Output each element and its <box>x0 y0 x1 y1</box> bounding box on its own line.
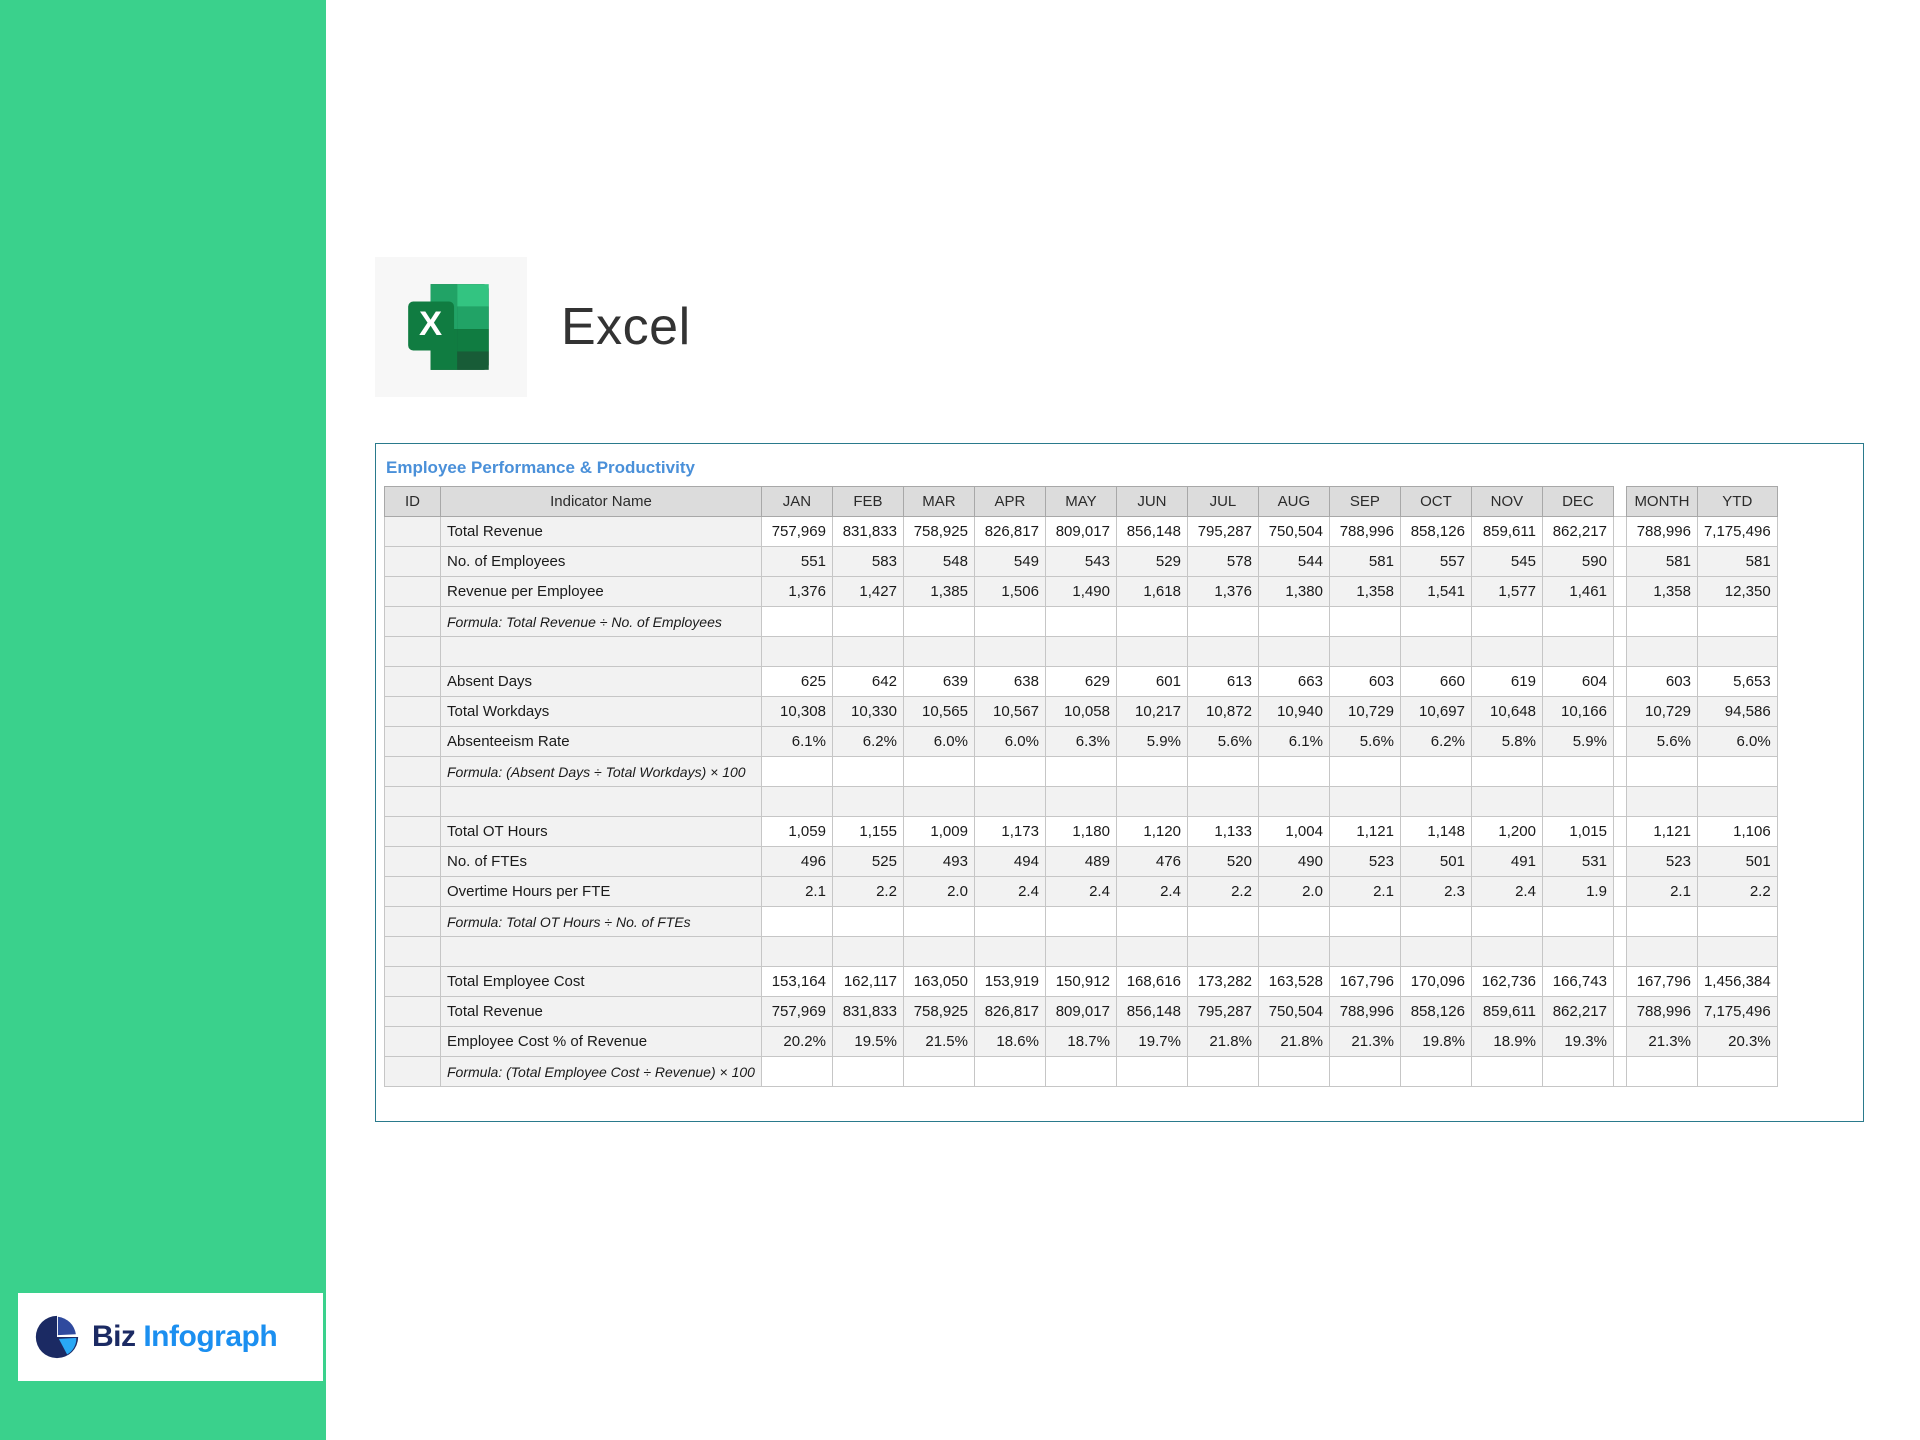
cell-mar[interactable]: 163,050 <box>903 967 974 997</box>
cell-sep[interactable] <box>1329 1057 1400 1087</box>
cell-oct[interactable] <box>1400 637 1471 667</box>
cell-mar[interactable]: 6.0% <box>903 727 974 757</box>
cell-ytd[interactable] <box>1697 907 1777 937</box>
table-row[interactable] <box>385 637 1778 667</box>
cell-indicator-name[interactable]: Formula: Total Revenue ÷ No. of Employee… <box>441 607 762 637</box>
cell-mar[interactable]: 1,009 <box>903 817 974 847</box>
cell-oct[interactable] <box>1400 607 1471 637</box>
cell-jul[interactable]: 5.6% <box>1187 727 1258 757</box>
cell-id[interactable] <box>385 757 441 787</box>
cell-indicator-name[interactable]: Total Employee Cost <box>441 967 762 997</box>
cell-aug[interactable]: 1,380 <box>1258 577 1329 607</box>
cell-feb[interactable]: 19.5% <box>832 1027 903 1057</box>
cell-sep[interactable]: 523 <box>1329 847 1400 877</box>
cell-feb[interactable]: 2.2 <box>832 877 903 907</box>
cell-oct[interactable]: 858,126 <box>1400 997 1471 1027</box>
cell-may[interactable]: 629 <box>1045 667 1116 697</box>
cell-feb[interactable] <box>832 937 903 967</box>
cell-month[interactable] <box>1626 907 1697 937</box>
table-row[interactable]: No. of FTEs49652549349448947652049052350… <box>385 847 1778 877</box>
cell-mar[interactable] <box>903 907 974 937</box>
cell-sep[interactable]: 603 <box>1329 667 1400 697</box>
cell-jun[interactable]: 19.7% <box>1116 1027 1187 1057</box>
cell-dec[interactable]: 1,015 <box>1542 817 1613 847</box>
cell-dec[interactable]: 862,217 <box>1542 997 1613 1027</box>
cell-id[interactable] <box>385 1027 441 1057</box>
cell-jul[interactable]: 795,287 <box>1187 517 1258 547</box>
cell-id[interactable] <box>385 847 441 877</box>
cell-oct[interactable] <box>1400 787 1471 817</box>
cell-apr[interactable] <box>974 757 1045 787</box>
cell-apr[interactable]: 2.4 <box>974 877 1045 907</box>
cell-feb[interactable] <box>832 637 903 667</box>
cell-jun[interactable] <box>1116 907 1187 937</box>
cell-month[interactable] <box>1626 757 1697 787</box>
cell-indicator-name[interactable]: Absenteeism Rate <box>441 727 762 757</box>
cell-aug[interactable] <box>1258 757 1329 787</box>
cell-sep[interactable] <box>1329 907 1400 937</box>
cell-jul[interactable] <box>1187 607 1258 637</box>
cell-apr[interactable]: 549 <box>974 547 1045 577</box>
cell-sep[interactable] <box>1329 757 1400 787</box>
cell-dec[interactable]: 1,461 <box>1542 577 1613 607</box>
cell-jan[interactable] <box>761 907 832 937</box>
cell-apr[interactable]: 1,173 <box>974 817 1045 847</box>
cell-aug[interactable] <box>1258 1057 1329 1087</box>
cell-month[interactable] <box>1626 937 1697 967</box>
table-row[interactable]: Total Workdays10,30810,33010,56510,56710… <box>385 697 1778 727</box>
cell-mar[interactable]: 548 <box>903 547 974 577</box>
cell-oct[interactable]: 858,126 <box>1400 517 1471 547</box>
cell-jun[interactable]: 5.9% <box>1116 727 1187 757</box>
cell-id[interactable] <box>385 517 441 547</box>
cell-jan[interactable] <box>761 937 832 967</box>
cell-indicator-name[interactable]: No. of FTEs <box>441 847 762 877</box>
cell-aug[interactable] <box>1258 907 1329 937</box>
cell-mar[interactable]: 10,565 <box>903 697 974 727</box>
cell-mar[interactable]: 1,385 <box>903 577 974 607</box>
cell-nov[interactable]: 2.4 <box>1471 877 1542 907</box>
cell-may[interactable]: 10,058 <box>1045 697 1116 727</box>
cell-ytd[interactable]: 6.0% <box>1697 727 1777 757</box>
cell-jun[interactable] <box>1116 787 1187 817</box>
cell-may[interactable] <box>1045 637 1116 667</box>
cell-aug[interactable] <box>1258 607 1329 637</box>
cell-may[interactable] <box>1045 1057 1116 1087</box>
cell-jul[interactable] <box>1187 937 1258 967</box>
cell-jan[interactable]: 6.1% <box>761 727 832 757</box>
cell-feb[interactable] <box>832 787 903 817</box>
cell-sep[interactable]: 2.1 <box>1329 877 1400 907</box>
cell-nov[interactable]: 545 <box>1471 547 1542 577</box>
cell-jun[interactable]: 856,148 <box>1116 997 1187 1027</box>
cell-id[interactable] <box>385 637 441 667</box>
cell-may[interactable] <box>1045 607 1116 637</box>
cell-dec[interactable]: 862,217 <box>1542 517 1613 547</box>
cell-apr[interactable]: 826,817 <box>974 997 1045 1027</box>
cell-mar[interactable] <box>903 637 974 667</box>
table-row[interactable]: Total Revenue757,969831,833758,925826,81… <box>385 517 1778 547</box>
cell-apr[interactable]: 153,919 <box>974 967 1045 997</box>
table-row[interactable]: Formula: (Total Employee Cost ÷ Revenue)… <box>385 1057 1778 1087</box>
cell-id[interactable] <box>385 727 441 757</box>
cell-apr[interactable]: 6.0% <box>974 727 1045 757</box>
cell-indicator-name[interactable]: No. of Employees <box>441 547 762 577</box>
cell-aug[interactable]: 1,004 <box>1258 817 1329 847</box>
cell-may[interactable] <box>1045 757 1116 787</box>
cell-dec[interactable] <box>1542 607 1613 637</box>
cell-dec[interactable] <box>1542 1057 1613 1087</box>
cell-month[interactable]: 581 <box>1626 547 1697 577</box>
cell-month[interactable]: 603 <box>1626 667 1697 697</box>
cell-sep[interactable]: 10,729 <box>1329 697 1400 727</box>
cell-jan[interactable]: 551 <box>761 547 832 577</box>
cell-ytd[interactable]: 1,456,384 <box>1697 967 1777 997</box>
cell-may[interactable]: 1,490 <box>1045 577 1116 607</box>
cell-may[interactable]: 809,017 <box>1045 997 1116 1027</box>
cell-jul[interactable]: 578 <box>1187 547 1258 577</box>
cell-indicator-name[interactable] <box>441 637 762 667</box>
cell-jul[interactable]: 613 <box>1187 667 1258 697</box>
cell-indicator-name[interactable] <box>441 787 762 817</box>
cell-ytd[interactable]: 7,175,496 <box>1697 997 1777 1027</box>
cell-may[interactable]: 150,912 <box>1045 967 1116 997</box>
cell-indicator-name[interactable]: Formula: (Total Employee Cost ÷ Revenue)… <box>441 1057 762 1087</box>
cell-month[interactable]: 1,121 <box>1626 817 1697 847</box>
cell-dec[interactable] <box>1542 937 1613 967</box>
cell-feb[interactable]: 831,833 <box>832 997 903 1027</box>
cell-id[interactable] <box>385 1057 441 1087</box>
cell-oct[interactable]: 10,697 <box>1400 697 1471 727</box>
cell-ytd[interactable]: 2.2 <box>1697 877 1777 907</box>
cell-jun[interactable] <box>1116 757 1187 787</box>
cell-ytd[interactable]: 7,175,496 <box>1697 517 1777 547</box>
cell-mar[interactable] <box>903 787 974 817</box>
cell-mar[interactable]: 493 <box>903 847 974 877</box>
cell-nov[interactable]: 1,200 <box>1471 817 1542 847</box>
cell-feb[interactable]: 583 <box>832 547 903 577</box>
cell-dec[interactable]: 531 <box>1542 847 1613 877</box>
cell-jul[interactable]: 795,287 <box>1187 997 1258 1027</box>
cell-dec[interactable]: 604 <box>1542 667 1613 697</box>
cell-id[interactable] <box>385 967 441 997</box>
cell-aug[interactable] <box>1258 637 1329 667</box>
cell-jan[interactable]: 757,969 <box>761 517 832 547</box>
cell-jan[interactable]: 1,059 <box>761 817 832 847</box>
cell-ytd[interactable]: 501 <box>1697 847 1777 877</box>
cell-aug[interactable]: 490 <box>1258 847 1329 877</box>
table-row[interactable]: No. of Employees551583548549543529578544… <box>385 547 1778 577</box>
cell-may[interactable]: 489 <box>1045 847 1116 877</box>
cell-dec[interactable] <box>1542 637 1613 667</box>
table-row[interactable]: Employee Cost % of Revenue20.2%19.5%21.5… <box>385 1027 1778 1057</box>
cell-dec[interactable]: 166,743 <box>1542 967 1613 997</box>
cell-mar[interactable]: 21.5% <box>903 1027 974 1057</box>
table-row[interactable]: Total Employee Cost153,164162,117163,050… <box>385 967 1778 997</box>
cell-apr[interactable] <box>974 907 1045 937</box>
cell-may[interactable]: 18.7% <box>1045 1027 1116 1057</box>
cell-mar[interactable] <box>903 937 974 967</box>
cell-nov[interactable]: 10,648 <box>1471 697 1542 727</box>
cell-oct[interactable] <box>1400 907 1471 937</box>
cell-apr[interactable] <box>974 607 1045 637</box>
cell-feb[interactable]: 162,117 <box>832 967 903 997</box>
cell-feb[interactable]: 6.2% <box>832 727 903 757</box>
cell-sep[interactable]: 788,996 <box>1329 997 1400 1027</box>
cell-month[interactable]: 167,796 <box>1626 967 1697 997</box>
cell-id[interactable] <box>385 997 441 1027</box>
cell-jan[interactable]: 2.1 <box>761 877 832 907</box>
cell-ytd[interactable] <box>1697 757 1777 787</box>
cell-jan[interactable]: 496 <box>761 847 832 877</box>
cell-jun[interactable] <box>1116 1057 1187 1087</box>
cell-nov[interactable] <box>1471 637 1542 667</box>
cell-apr[interactable]: 1,506 <box>974 577 1045 607</box>
cell-jan[interactable]: 153,164 <box>761 967 832 997</box>
cell-dec[interactable] <box>1542 757 1613 787</box>
table-row[interactable]: Absent Days62564263963862960161366360366… <box>385 667 1778 697</box>
cell-ytd[interactable]: 20.3% <box>1697 1027 1777 1057</box>
cell-ytd[interactable] <box>1697 607 1777 637</box>
cell-jan[interactable]: 625 <box>761 667 832 697</box>
cell-may[interactable] <box>1045 907 1116 937</box>
cell-sep[interactable] <box>1329 637 1400 667</box>
cell-id[interactable] <box>385 907 441 937</box>
cell-jul[interactable]: 520 <box>1187 847 1258 877</box>
cell-may[interactable]: 543 <box>1045 547 1116 577</box>
cell-month[interactable]: 10,729 <box>1626 697 1697 727</box>
cell-jun[interactable]: 529 <box>1116 547 1187 577</box>
cell-mar[interactable] <box>903 757 974 787</box>
cell-indicator-name[interactable]: Revenue per Employee <box>441 577 762 607</box>
cell-apr[interactable]: 826,817 <box>974 517 1045 547</box>
cell-aug[interactable]: 750,504 <box>1258 517 1329 547</box>
cell-ytd[interactable] <box>1697 787 1777 817</box>
cell-oct[interactable]: 2.3 <box>1400 877 1471 907</box>
cell-ytd[interactable]: 12,350 <box>1697 577 1777 607</box>
cell-jan[interactable] <box>761 607 832 637</box>
cell-nov[interactable] <box>1471 757 1542 787</box>
cell-indicator-name[interactable]: Absent Days <box>441 667 762 697</box>
cell-mar[interactable] <box>903 607 974 637</box>
cell-jul[interactable] <box>1187 787 1258 817</box>
cell-oct[interactable]: 170,096 <box>1400 967 1471 997</box>
cell-sep[interactable] <box>1329 607 1400 637</box>
cell-id[interactable] <box>385 817 441 847</box>
cell-indicator-name[interactable]: Formula: Total OT Hours ÷ No. of FTEs <box>441 907 762 937</box>
cell-jun[interactable]: 1,120 <box>1116 817 1187 847</box>
cell-month[interactable]: 788,996 <box>1626 517 1697 547</box>
cell-jan[interactable] <box>761 637 832 667</box>
cell-indicator-name[interactable]: Total Revenue <box>441 517 762 547</box>
cell-jul[interactable]: 10,872 <box>1187 697 1258 727</box>
cell-nov[interactable]: 619 <box>1471 667 1542 697</box>
cell-apr[interactable] <box>974 787 1045 817</box>
cell-month[interactable] <box>1626 1057 1697 1087</box>
cell-apr[interactable] <box>974 637 1045 667</box>
cell-feb[interactable] <box>832 757 903 787</box>
cell-nov[interactable]: 859,611 <box>1471 517 1542 547</box>
cell-nov[interactable] <box>1471 937 1542 967</box>
cell-nov[interactable]: 18.9% <box>1471 1027 1542 1057</box>
table-row[interactable]: Total Revenue757,969831,833758,925826,81… <box>385 997 1778 1027</box>
cell-jul[interactable]: 173,282 <box>1187 967 1258 997</box>
cell-may[interactable]: 6.3% <box>1045 727 1116 757</box>
cell-jul[interactable] <box>1187 637 1258 667</box>
cell-may[interactable] <box>1045 787 1116 817</box>
cell-apr[interactable]: 10,567 <box>974 697 1045 727</box>
cell-jun[interactable]: 168,616 <box>1116 967 1187 997</box>
cell-aug[interactable]: 750,504 <box>1258 997 1329 1027</box>
cell-jun[interactable]: 601 <box>1116 667 1187 697</box>
cell-sep[interactable]: 581 <box>1329 547 1400 577</box>
cell-dec[interactable]: 1.9 <box>1542 877 1613 907</box>
cell-month[interactable]: 788,996 <box>1626 997 1697 1027</box>
cell-dec[interactable]: 5.9% <box>1542 727 1613 757</box>
cell-nov[interactable] <box>1471 907 1542 937</box>
cell-month[interactable]: 1,358 <box>1626 577 1697 607</box>
cell-id[interactable] <box>385 547 441 577</box>
cell-nov[interactable]: 1,577 <box>1471 577 1542 607</box>
cell-nov[interactable]: 491 <box>1471 847 1542 877</box>
cell-id[interactable] <box>385 877 441 907</box>
cell-apr[interactable]: 18.6% <box>974 1027 1045 1057</box>
cell-jun[interactable]: 10,217 <box>1116 697 1187 727</box>
table-row[interactable]: Absenteeism Rate6.1%6.2%6.0%6.0%6.3%5.9%… <box>385 727 1778 757</box>
cell-sep[interactable]: 21.3% <box>1329 1027 1400 1057</box>
cell-indicator-name[interactable]: Employee Cost % of Revenue <box>441 1027 762 1057</box>
cell-feb[interactable]: 1,427 <box>832 577 903 607</box>
table-row[interactable]: Formula: (Absent Days ÷ Total Workdays) … <box>385 757 1778 787</box>
cell-ytd[interactable] <box>1697 1057 1777 1087</box>
cell-oct[interactable]: 1,541 <box>1400 577 1471 607</box>
cell-aug[interactable]: 2.0 <box>1258 877 1329 907</box>
cell-jan[interactable]: 20.2% <box>761 1027 832 1057</box>
cell-sep[interactable] <box>1329 937 1400 967</box>
cell-aug[interactable] <box>1258 937 1329 967</box>
cell-aug[interactable]: 21.8% <box>1258 1027 1329 1057</box>
cell-jan[interactable] <box>761 757 832 787</box>
cell-aug[interactable] <box>1258 787 1329 817</box>
cell-month[interactable] <box>1626 607 1697 637</box>
cell-oct[interactable]: 19.8% <box>1400 1027 1471 1057</box>
cell-jul[interactable] <box>1187 907 1258 937</box>
cell-jan[interactable]: 1,376 <box>761 577 832 607</box>
cell-oct[interactable]: 660 <box>1400 667 1471 697</box>
cell-may[interactable]: 2.4 <box>1045 877 1116 907</box>
cell-id[interactable] <box>385 607 441 637</box>
cell-jan[interactable]: 10,308 <box>761 697 832 727</box>
cell-month[interactable]: 2.1 <box>1626 877 1697 907</box>
cell-jan[interactable] <box>761 1057 832 1087</box>
cell-jun[interactable]: 1,618 <box>1116 577 1187 607</box>
cell-oct[interactable]: 557 <box>1400 547 1471 577</box>
cell-mar[interactable] <box>903 1057 974 1087</box>
cell-mar[interactable]: 758,925 <box>903 997 974 1027</box>
cell-mar[interactable]: 2.0 <box>903 877 974 907</box>
cell-oct[interactable]: 501 <box>1400 847 1471 877</box>
cell-may[interactable]: 1,180 <box>1045 817 1116 847</box>
cell-feb[interactable]: 525 <box>832 847 903 877</box>
cell-month[interactable] <box>1626 637 1697 667</box>
table-row[interactable]: Revenue per Employee1,3761,4271,3851,506… <box>385 577 1778 607</box>
cell-aug[interactable]: 163,528 <box>1258 967 1329 997</box>
cell-sep[interactable]: 5.6% <box>1329 727 1400 757</box>
cell-month[interactable]: 523 <box>1626 847 1697 877</box>
cell-jul[interactable]: 1,376 <box>1187 577 1258 607</box>
cell-jun[interactable]: 856,148 <box>1116 517 1187 547</box>
cell-apr[interactable] <box>974 1057 1045 1087</box>
cell-sep[interactable]: 1,358 <box>1329 577 1400 607</box>
cell-jul[interactable]: 2.2 <box>1187 877 1258 907</box>
cell-month[interactable] <box>1626 787 1697 817</box>
cell-feb[interactable]: 10,330 <box>832 697 903 727</box>
cell-id[interactable] <box>385 697 441 727</box>
cell-jan[interactable] <box>761 787 832 817</box>
cell-jun[interactable] <box>1116 637 1187 667</box>
cell-indicator-name[interactable]: Total Revenue <box>441 997 762 1027</box>
cell-dec[interactable]: 10,166 <box>1542 697 1613 727</box>
cell-jul[interactable]: 1,133 <box>1187 817 1258 847</box>
cell-jan[interactable]: 757,969 <box>761 997 832 1027</box>
cell-feb[interactable] <box>832 907 903 937</box>
cell-month[interactable]: 5.6% <box>1626 727 1697 757</box>
cell-feb[interactable] <box>832 1057 903 1087</box>
cell-jun[interactable] <box>1116 937 1187 967</box>
cell-oct[interactable] <box>1400 1057 1471 1087</box>
cell-indicator-name[interactable]: Total Workdays <box>441 697 762 727</box>
cell-indicator-name[interactable]: Formula: (Absent Days ÷ Total Workdays) … <box>441 757 762 787</box>
cell-nov[interactable] <box>1471 1057 1542 1087</box>
cell-jul[interactable]: 21.8% <box>1187 1027 1258 1057</box>
cell-aug[interactable]: 663 <box>1258 667 1329 697</box>
cell-aug[interactable]: 6.1% <box>1258 727 1329 757</box>
cell-sep[interactable]: 167,796 <box>1329 967 1400 997</box>
cell-nov[interactable] <box>1471 787 1542 817</box>
table-row[interactable] <box>385 787 1778 817</box>
cell-id[interactable] <box>385 667 441 697</box>
table-row[interactable]: Total OT Hours1,0591,1551,0091,1731,1801… <box>385 817 1778 847</box>
cell-sep[interactable] <box>1329 787 1400 817</box>
cell-ytd[interactable]: 5,653 <box>1697 667 1777 697</box>
cell-id[interactable] <box>385 937 441 967</box>
cell-mar[interactable]: 639 <box>903 667 974 697</box>
cell-jun[interactable]: 2.4 <box>1116 877 1187 907</box>
cell-nov[interactable]: 859,611 <box>1471 997 1542 1027</box>
cell-may[interactable]: 809,017 <box>1045 517 1116 547</box>
cell-apr[interactable]: 638 <box>974 667 1045 697</box>
cell-dec[interactable] <box>1542 907 1613 937</box>
cell-sep[interactable]: 1,121 <box>1329 817 1400 847</box>
cell-jun[interactable]: 476 <box>1116 847 1187 877</box>
cell-indicator-name[interactable]: Overtime Hours per FTE <box>441 877 762 907</box>
cell-id[interactable] <box>385 577 441 607</box>
cell-dec[interactable] <box>1542 787 1613 817</box>
cell-indicator-name[interactable]: Total OT Hours <box>441 817 762 847</box>
cell-nov[interactable]: 5.8% <box>1471 727 1542 757</box>
cell-ytd[interactable]: 1,106 <box>1697 817 1777 847</box>
cell-oct[interactable]: 6.2% <box>1400 727 1471 757</box>
table-row[interactable] <box>385 937 1778 967</box>
table-row[interactable]: Formula: Total OT Hours ÷ No. of FTEs <box>385 907 1778 937</box>
cell-oct[interactable] <box>1400 757 1471 787</box>
cell-ytd[interactable] <box>1697 637 1777 667</box>
table-row[interactable]: Formula: Total Revenue ÷ No. of Employee… <box>385 607 1778 637</box>
cell-apr[interactable]: 494 <box>974 847 1045 877</box>
cell-feb[interactable]: 642 <box>832 667 903 697</box>
cell-feb[interactable] <box>832 607 903 637</box>
cell-indicator-name[interactable] <box>441 937 762 967</box>
